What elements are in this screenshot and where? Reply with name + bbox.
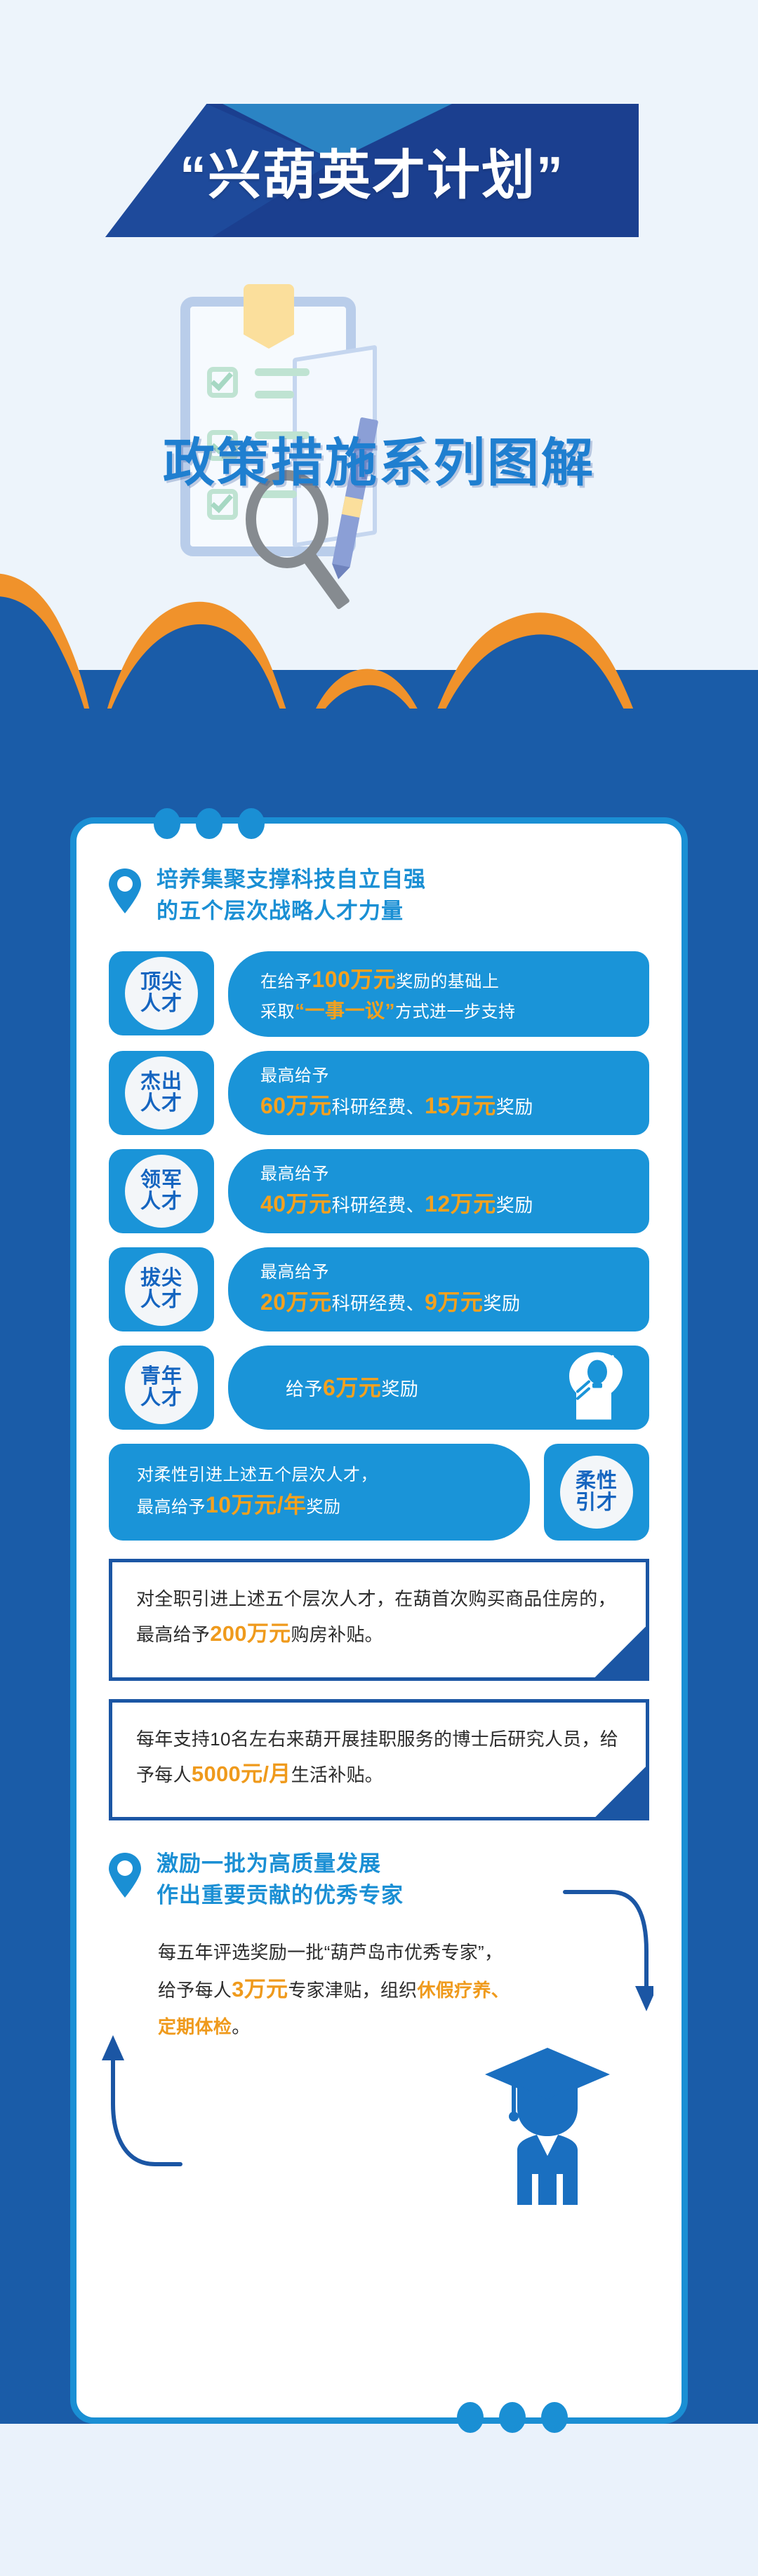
tier-badge: 顶尖 人才 (109, 951, 214, 1035)
note-amount: 200万元 (210, 1621, 291, 1646)
tier-text-post: 奖励的基础上 (396, 972, 499, 991)
notebook-rings-top (154, 808, 301, 839)
tier-amount-1: 40万元 (260, 1191, 332, 1216)
final-text-pre: 给予每人 (158, 1980, 232, 2001)
note-box-postdoc-allowance: 每年支持10名左右来葫开展挂职服务的博士后研究人员，给予每人5000元/月生活补… (109, 1699, 649, 1821)
location-pin-icon (109, 868, 141, 913)
tier-name-line1: 青年 (140, 1366, 182, 1388)
location-pin-icon (109, 1853, 141, 1898)
tier-detail: 最高给予 60万元科研经费、15万元奖励 (228, 1051, 649, 1135)
tier-lead: 最高给予 (260, 1064, 628, 1089)
tier-oval: 领军 人才 (125, 1155, 198, 1228)
tier-name-line1: 拔尖 (140, 1268, 182, 1289)
tier-amount: 100万元 (312, 967, 397, 992)
tier-name-line1: 顶尖 (140, 972, 182, 993)
ring-icon (457, 2402, 484, 2433)
tier-detail: 在给予100万元奖励的基础上 采取“一事一议”方式进一步支持 (228, 951, 649, 1037)
tier-amount-1: 60万元 (260, 1093, 332, 1118)
hero-section: “兴葫英才计划” 政策措施系列图解 (0, 0, 758, 709)
ring-icon (541, 2402, 568, 2433)
tier-label-2: 奖励 (483, 1293, 520, 1314)
graduate-person-icon (481, 2044, 614, 2205)
ring-icon (238, 808, 265, 839)
tier-amount-2: 15万元 (425, 1093, 496, 1118)
tier-lead-pre: 给予 (286, 1378, 323, 1400)
flexible-line2-post: 奖励 (307, 1498, 341, 1517)
flexible-badge-line1: 柔性 (576, 1470, 618, 1492)
section-title-line1: 激励一批为高质量发展 (157, 1849, 404, 1880)
tier-amount-1: 20万元 (260, 1289, 332, 1315)
expert-reward-block: 每五年评选奖励一批“葫芦岛市优秀专家”， 给予每人3万元专家津贴，组织休假疗养、… (109, 1936, 649, 2044)
flexible-talent-badge: 柔性 引才 (544, 1444, 649, 1541)
flexible-line-1: 对柔性引进上述五个层次人才， (137, 1463, 502, 1488)
head-lightbulb-icon (561, 1352, 625, 1423)
tier-label-2: 奖励 (496, 1195, 533, 1216)
ring-icon (499, 2402, 526, 2433)
tier-quote: “一事一议” (295, 1000, 395, 1021)
tier-row-outstanding-talent: 杰出 人才 最高给予 60万元科研经费、15万元奖励 (109, 1051, 649, 1135)
title-banner: “兴葫英才计划” (105, 104, 639, 237)
tier-oval: 顶尖 人才 (125, 957, 198, 1030)
final-text-end: 。 (232, 2016, 250, 2037)
tier-text-post-2: 方式进一步支持 (395, 1002, 516, 1021)
final-amount: 3万元 (232, 1977, 288, 2001)
curved-arrow-down-icon (562, 1886, 653, 2034)
tier-amount-2: 12万元 (425, 1191, 496, 1216)
tier-lead: 最高给予 (260, 1162, 628, 1187)
final-text-mid: 专家津贴，组织 (288, 1980, 417, 2001)
note-box-housing-subsidy: 对全职引进上述五个层次人才，在葫首次购买商品住房的，最高给予200万元购房补贴。 (109, 1559, 649, 1681)
section-title-line2: 作出重要贡献的优秀专家 (157, 1880, 404, 1912)
tier-row-top-talent: 顶尖 人才 在给予100万元奖励的基础上 采取“一事一议”方式进一步支持 (109, 951, 649, 1037)
ring-icon (196, 808, 222, 839)
tier-oval: 柔性 引才 (560, 1456, 633, 1529)
tier-name-line2: 人才 (140, 1093, 182, 1115)
flexible-talent-detail: 对柔性引进上述五个层次人才， 最高给予10万元/年奖励 (109, 1444, 530, 1541)
tier-oval: 拔尖 人才 (125, 1253, 198, 1326)
tier-name-line1: 杰出 (140, 1071, 182, 1093)
tier-lead: 最高给予 (260, 1260, 628, 1285)
tier-detail: 最高给予 40万元科研经费、12万元奖励 (228, 1149, 649, 1233)
text-line-icon-2 (255, 391, 294, 398)
note-amount: 5000元/月 (192, 1762, 291, 1786)
tier-oval: 青年 人才 (125, 1351, 198, 1424)
tier-row-top-notch-talent: 拔尖 人才 最高给予 20万元科研经费、9万元奖励 (109, 1247, 649, 1331)
tier-badge: 拔尖 人才 (109, 1247, 214, 1331)
note-text-post: 购房补贴。 (291, 1624, 383, 1645)
tier-badge: 青年 人才 (109, 1346, 214, 1430)
tier-name-line2: 人才 (140, 993, 182, 1015)
text-line-icon-1 (255, 368, 310, 376)
tier-row-young-talent: 青年 人才 给予6万元奖励 (109, 1346, 649, 1430)
tier-name-line1: 领军 (140, 1169, 182, 1191)
content-card: 培养集聚支撑科技自立自强 的五个层次战略人才力量 顶尖 人才 在给予100万元奖… (70, 817, 688, 2424)
note-text-post: 生活补贴。 (291, 1764, 384, 1785)
wave-decoration (0, 540, 758, 709)
tier-label-1: 奖励 (381, 1378, 418, 1400)
tier-text-pre: 在给予 (260, 972, 312, 991)
tier-detail: 给予6万元奖励 (228, 1346, 649, 1430)
ring-icon (154, 808, 180, 839)
tier-label-1: 科研经费、 (332, 1293, 425, 1314)
pen-band-icon (342, 496, 363, 517)
tier-amount-1: 6万元 (323, 1375, 381, 1400)
section-title-line2: 的五个层次战略人才力量 (157, 896, 426, 927)
flexible-line2-pre: 最高给予 (137, 1498, 206, 1517)
tier-row-leading-talent: 领军 人才 最高给予 40万元科研经费、12万元奖励 (109, 1149, 649, 1233)
tier-badge: 领军 人才 (109, 1149, 214, 1233)
curved-arrow-up-icon (99, 1999, 183, 2174)
flexible-talent-row: 对柔性引进上述五个层次人才， 最高给予10万元/年奖励 柔性 引才 (109, 1444, 649, 1541)
section-title-line1: 培养集聚支撑科技自立自强 (157, 864, 426, 896)
tier-oval: 杰出 人才 (125, 1056, 198, 1129)
tier-detail: 最高给予 20万元科研经费、9万元奖励 (228, 1247, 649, 1331)
page-subtitle: 政策措施系列图解 (0, 421, 758, 496)
tier-label-2: 奖励 (496, 1096, 533, 1118)
final-benefit-1: 休假疗养、 (417, 1980, 510, 2001)
tier-label-1: 科研经费、 (332, 1096, 425, 1118)
flexible-badge-line2: 引才 (576, 1492, 618, 1514)
tier-name-line2: 人才 (140, 1289, 182, 1311)
section-header-1: 培养集聚支撑科技自立自强 的五个层次战略人才力量 (109, 864, 649, 927)
final-text-line-1: 每五年评选奖励一批“葫芦岛市优秀专家”， (158, 1936, 600, 1969)
flexible-amount: 10万元/年 (206, 1492, 307, 1517)
tier-text-pre-2: 采取 (260, 1002, 295, 1021)
tier-label-1: 科研经费、 (332, 1195, 425, 1216)
tier-amount-2: 9万元 (425, 1289, 483, 1315)
tier-name-line2: 人才 (140, 1388, 182, 1409)
tier-badge: 杰出 人才 (109, 1051, 214, 1135)
notebook-rings-bottom (457, 2402, 604, 2433)
tier-name-line2: 人才 (140, 1191, 182, 1213)
page-title: “兴葫英才计划” (105, 104, 639, 237)
